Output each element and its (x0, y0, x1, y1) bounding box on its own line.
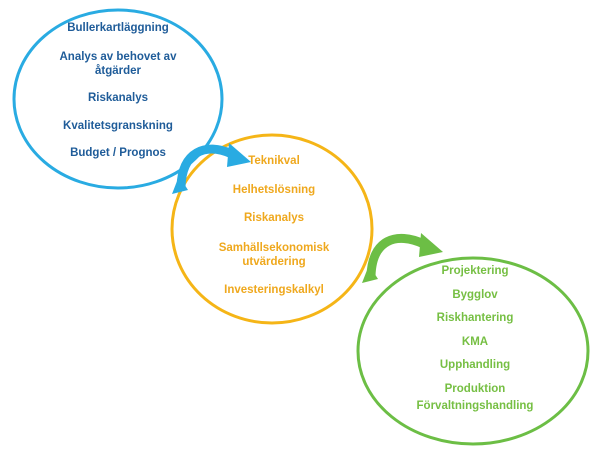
diagram-canvas: Bullerkartläggning Analys av behovet avå… (0, 0, 600, 454)
phase-2-item-3: Samhällsekonomiskutvärdering (190, 241, 358, 270)
phase-1-item-1: Analys av behovet avåtgärder (18, 50, 218, 79)
phase-2-label-list: Teknikval Helhetslösning Riskanalys Samh… (190, 155, 358, 298)
phase-2-item-3-line-1: Samhällsekonomisk (219, 242, 330, 254)
phase-3-label-list: Projektering Bygglov Riskhantering KMA U… (368, 265, 582, 414)
phase-3-item-3: KMA (368, 336, 582, 350)
phase-1-item-0: Bullerkartläggning (18, 22, 218, 36)
phase-3-item-5: Produktion (368, 383, 582, 397)
phase-3-item-0: Projektering (368, 265, 582, 279)
phase-2-item-3-line-2: utvärdering (242, 256, 305, 268)
phase-1-item-1-line-2: åtgärder (95, 65, 141, 77)
phase-3-item-6: Förvaltningshandling (368, 400, 582, 414)
phase-1-item-1-line-1: Analys av behovet av (60, 51, 177, 63)
phase-1-item-4: Budget / Prognos (18, 147, 218, 161)
phase-2-item-4: Investeringskalkyl (190, 284, 358, 298)
phase-3-item-2: Riskhantering (368, 312, 582, 326)
phase-1-item-3: Kvalitetsgranskning (18, 120, 218, 134)
phase-2-item-2: Riskanalys (190, 212, 358, 226)
phase-2-item-1: Helhetslösning (190, 184, 358, 198)
phase-1-label-list: Bullerkartläggning Analys av behovet avå… (18, 22, 218, 161)
phase-3-item-4: Upphandling (368, 359, 582, 373)
phase-3-item-1: Bygglov (368, 289, 582, 303)
phase-1-item-2: Riskanalys (18, 92, 218, 106)
phase-2-item-0: Teknikval (190, 155, 358, 169)
